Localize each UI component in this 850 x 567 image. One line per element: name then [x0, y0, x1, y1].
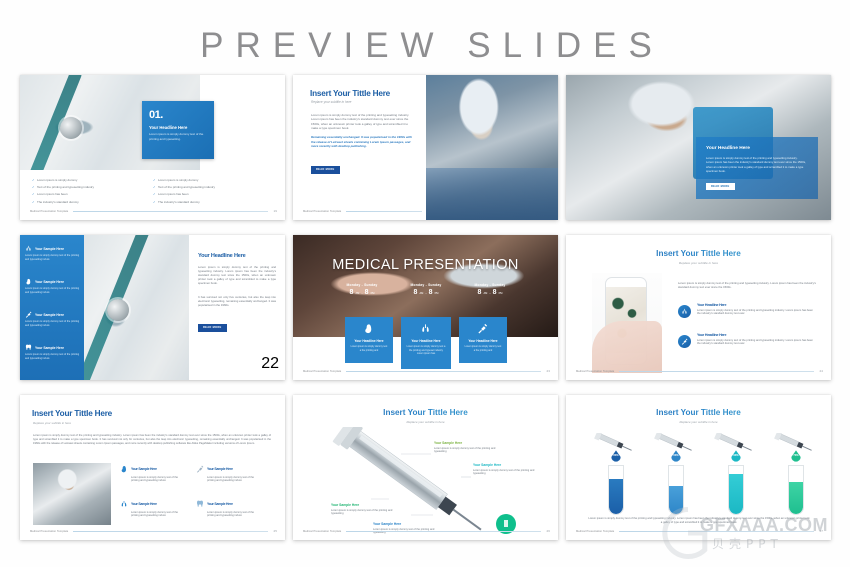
sidebar-item-label: Your Sample Here — [35, 247, 64, 251]
footer-text: Medical Presentation Template — [303, 370, 341, 373]
item-text: Lorem ipsum is simply dummy text of the … — [697, 309, 817, 317]
stethoscope-photo — [84, 235, 189, 380]
feature-item-3[interactable]: Your Sample Here Lorem ipsum is simply d… — [120, 500, 190, 518]
test-tube — [788, 465, 804, 515]
check-icon: ✓ — [32, 200, 35, 204]
icon-circle — [678, 335, 691, 348]
slide-title: Insert Your Tittle Here — [566, 249, 831, 258]
slide-thumbnail-3[interactable]: Your Headline Here Lorem ipsum is simply… — [566, 75, 831, 220]
check-icon: ✓ — [153, 192, 156, 196]
panel-body-1: Lorem ipsum is simply dummy text of the … — [198, 265, 276, 285]
slide-title: Insert Your Tittle Here — [566, 408, 831, 417]
hours-open-ampm: AM — [419, 292, 423, 295]
slide-body: Lorem ipsum is simply dummy text of the … — [678, 281, 818, 289]
sidebar-item-text: Lorem ipsum is simply dummy text of the … — [25, 254, 81, 262]
check-icon: ✓ — [32, 178, 35, 182]
lungs-icon — [420, 323, 431, 334]
page-title: PREVIEW SLIDES — [0, 0, 850, 66]
tube-percent: 60% — [668, 454, 684, 457]
lungs-icon — [120, 500, 128, 508]
callout-label: Your Sample Here — [331, 503, 393, 507]
test-tube — [728, 465, 744, 515]
feature-item-4[interactable]: Your Sample Here Lorem ipsum is simply d… — [196, 500, 266, 518]
syringe-infographic — [293, 427, 558, 537]
bullet-text: Lorem ipsum has been — [158, 192, 189, 196]
check-icon: ✓ — [153, 200, 156, 204]
item-label: Your Sample Here — [207, 467, 233, 471]
hours-close-ampm: PM — [371, 292, 375, 295]
syringe-icon — [477, 323, 488, 334]
check-icon: ✓ — [153, 185, 156, 189]
read-more-button-wrap[interactable]: READ MORE — [198, 315, 227, 333]
syringe-icon — [196, 465, 204, 473]
page-number: 25 — [273, 529, 277, 533]
slide-thumbnail-7[interactable]: Insert Your Tittle Here Replace your sub… — [20, 395, 285, 540]
footer-text: Medical Presentation Template — [576, 530, 614, 533]
slide-subtitle: Replace your subtitle in here — [566, 420, 831, 424]
callout-label: Your Sample Here — [473, 463, 535, 467]
surgeon-photo — [426, 75, 558, 220]
item-text: Lorem ipsum is simply dummy text of the … — [207, 511, 263, 519]
slide-subtitle: Replace your subtitle in here — [33, 421, 71, 425]
slide-thumbnail-6[interactable]: Insert Your Tittle Here Replace your sub… — [566, 235, 831, 380]
droplet-icon — [668, 449, 684, 465]
tooth-icon — [196, 500, 204, 508]
tube-group-4[interactable]: 70% — [774, 433, 826, 515]
bullet-text: Text of the printing and typesetting ind… — [158, 185, 215, 189]
read-more-button[interactable]: READ MORE — [706, 183, 735, 190]
callout-1[interactable]: Your Sample Here Lorem ipsum is simply d… — [434, 441, 496, 454]
test-tube — [668, 465, 684, 515]
feature-card-1[interactable]: Your Headline Here Lorem ipsum is simply… — [345, 317, 393, 363]
hours-open: 8 — [350, 289, 354, 296]
slide-footer: Medical Presentation Template 23 — [303, 369, 550, 373]
bullet-text: Lorem ipsum is simply dummy — [37, 178, 77, 182]
feature-item-1[interactable]: Your Sample Here Lorem ipsum is simply d… — [120, 465, 190, 483]
slide-body: Lorem ipsum is simply dummy text of the … — [311, 113, 415, 130]
footer-text: Medical Presentation Template — [303, 210, 341, 213]
footer-divider — [346, 371, 541, 372]
sidebar-item-1[interactable]: Your Sample Here Lorem ipsum is simply d… — [25, 245, 81, 262]
hand-phone-photo — [592, 273, 662, 373]
lab-photo — [33, 463, 111, 525]
slide-footer: Medical Presentation Template 26 — [303, 529, 550, 533]
item-text: Lorem ipsum is simply dummy text of the … — [131, 511, 187, 519]
footer-text: Medical Presentation Template — [576, 370, 614, 373]
bullet-text: The industry's standard dummy — [37, 200, 79, 204]
callout-text: Lorem ipsum is simply dummy text of the … — [331, 509, 393, 517]
sidebar-item-label: Your Sample Here — [35, 280, 64, 284]
hours-days: Monday - Sunday — [461, 283, 519, 287]
tube-fill — [729, 474, 743, 514]
sidebar-panel: Your Sample Here Lorem ipsum is simply d… — [20, 235, 84, 380]
check-icon: ✓ — [32, 185, 35, 189]
hours-close-ampm: PM — [499, 292, 503, 295]
callout-text: Lorem ipsum is simply dummy text of the … — [434, 447, 496, 455]
tube-fill — [609, 479, 623, 514]
overlay-headline: Your Headline Here — [706, 146, 750, 151]
read-more-button[interactable]: READ MORE — [198, 324, 227, 332]
sidebar-item-4[interactable]: Your Sample Here Lorem ipsum is simply d… — [25, 344, 81, 361]
footer-divider — [619, 371, 814, 372]
bullet-text: Text of the printing and typesetting ind… — [37, 185, 94, 189]
page-number: 19 — [273, 209, 277, 213]
hours-open: 8 — [478, 289, 482, 296]
content-panel: Your Headline Here Lorem ipsum is simply… — [189, 235, 285, 380]
footer-divider — [346, 531, 541, 532]
preview-slides-page: PREVIEW SLIDES 01. Your Headline Here Lo… — [0, 0, 850, 567]
panel-headline: Your Headline Here — [198, 253, 246, 259]
card-text: Lorem ipsum is simply dummy text of the … — [149, 132, 205, 141]
sidebar-item-text: Lorem ipsum is simply dummy text of the … — [25, 353, 81, 361]
card-headline: Your Headline Here — [149, 125, 187, 130]
hand-shape — [592, 321, 662, 373]
footer-text: Medical Presentation Template — [30, 210, 68, 213]
syringe-icon — [25, 311, 32, 318]
sidebar-item-label: Your Sample Here — [35, 346, 64, 350]
slide-subtitle: Replace your subtitle in here — [293, 420, 558, 424]
slide-title: Insert Your Tittle Here — [310, 89, 390, 98]
hours-open-ampm: AM — [483, 292, 487, 295]
callout-2[interactable]: Your Sample Here Lorem ipsum is simply d… — [473, 463, 535, 476]
bullet-list-left: ✓Lorem ipsum is simply dummy ✓Text of th… — [32, 178, 140, 204]
bullet-text: Lorem ipsum is simply dummy — [158, 178, 198, 182]
icon-circle — [678, 305, 691, 318]
stomach-icon — [120, 465, 128, 473]
item-label: Your Sample Here — [207, 502, 233, 506]
page-number: 26 — [546, 529, 550, 533]
test-tube — [608, 465, 624, 515]
stomach-icon — [363, 323, 374, 334]
droplet-icon — [788, 449, 804, 465]
feature-item-2[interactable]: Your Sample Here Lorem ipsum is simply d… — [196, 465, 266, 483]
headline-overlay-panel: Your Headline Here Lorem ipsum is simply… — [696, 137, 818, 199]
callout-text: Lorem ipsum is simply dummy text of the … — [473, 469, 535, 477]
slide-footer: Medical Presentation Template 19 — [30, 209, 277, 213]
item-headline: Your Headline Here — [697, 303, 820, 307]
sidebar-item-3[interactable]: Your Sample Here Lorem ipsum is simply d… — [25, 311, 81, 328]
syringe-icon — [681, 338, 688, 345]
check-icon: ✓ — [153, 178, 156, 182]
tube-fill — [789, 482, 803, 514]
feature-card-2[interactable]: Your Headline Here Lorem ipsum is simply… — [401, 317, 451, 369]
hours-open-ampm: AM — [355, 292, 359, 295]
page-number: 22 — [261, 355, 279, 373]
tube-group-2[interactable]: 60% — [654, 433, 706, 515]
page-number: 23 — [546, 369, 550, 373]
tube-percent: 90% — [728, 454, 744, 457]
slide-thumbnail-5[interactable]: MEDICAL PRESENTATION Monday - Sunday 8 A… — [293, 235, 558, 380]
item-label: Your Sample Here — [131, 502, 157, 506]
slide-thumbnail-2[interactable]: Insert Your Tittle Here Replace your sub… — [293, 75, 558, 220]
bullet-text: The industry's standard dummy — [158, 200, 200, 204]
read-more-button[interactable]: READ MORE — [311, 166, 340, 174]
slide-title: Insert Your Tittle Here — [293, 408, 558, 417]
page-number: 27 — [819, 529, 823, 533]
feature-item-1[interactable]: Your Headline Here Lorem ipsum is simply… — [678, 303, 820, 316]
hours-days: Monday - Sunday — [397, 283, 455, 287]
number-card: 01. Your Headline Here Lorem ipsum is si… — [142, 101, 214, 159]
sidebar-item-text: Lorem ipsum is simply dummy text of the … — [25, 287, 81, 295]
slide-title: MEDICAL PRESENTATION — [293, 257, 558, 273]
check-icon: ✓ — [32, 192, 35, 196]
stomach-icon — [25, 278, 32, 285]
page-number: 24 — [819, 369, 823, 373]
slide-body: Lorem ipsum is simply dummy text of the … — [588, 517, 810, 525]
hours-close-ampm: PM — [435, 292, 439, 295]
slide-body: Lorem ipsum is simply dummy text of the … — [33, 434, 271, 446]
slide-thumbnail-4[interactable]: Your Sample Here Lorem ipsum is simply d… — [20, 235, 285, 380]
hours-block-3: Monday - Sunday 8 AM - 8 PM — [461, 283, 519, 296]
item-headline: Your Headline Here — [697, 333, 820, 337]
tube-group-3[interactable]: 90% — [714, 433, 766, 515]
item-text: Lorem ipsum is simply dummy text of the … — [697, 339, 817, 347]
overlay-body: Lorem ipsum is simply dummy text of the … — [706, 156, 806, 173]
tooth-icon — [25, 344, 32, 351]
bullet-text: Lorem ipsum has been — [37, 192, 68, 196]
droplet-icon — [608, 449, 624, 465]
card-headline: Your Headline Here — [459, 339, 507, 343]
card-text: Lorem ipsum is simply dummy text a the p… — [464, 345, 502, 352]
hours-close: 8 — [365, 289, 369, 296]
slide-thumbnail-9[interactable]: Insert Your Tittle Here Replace your sub… — [566, 395, 831, 540]
card-text: Lorem ipsum is simply dummy text a the p… — [406, 345, 446, 356]
footer-divider — [346, 211, 422, 212]
footer-divider — [619, 531, 814, 532]
hours-close: 8 — [493, 289, 497, 296]
footer-divider — [73, 211, 268, 212]
feature-item-2[interactable]: Your Headline Here Lorem ipsum is simply… — [678, 333, 820, 346]
feature-card-3[interactable]: Your Headline Here Lorem ipsum is simply… — [459, 317, 507, 363]
slide-title: Insert Your Tittle Here — [32, 409, 112, 418]
lungs-icon — [681, 308, 688, 315]
lungs-icon — [25, 245, 32, 252]
callout-label: Your Sample Here — [434, 441, 496, 445]
bullet-list-right: ✓Lorem ipsum is simply dummy ✓Text of th… — [153, 178, 265, 204]
slide-body-highlight: Remaining essentially unchanged. It was … — [311, 135, 415, 149]
slide-thumbnail-1[interactable]: 01. Your Headline Here Lorem ipsum is si… — [20, 75, 285, 220]
item-label: Your Sample Here — [131, 467, 157, 471]
slide-footer: Medical Presentation Template 27 — [576, 529, 823, 533]
callout-label: Your Sample Here — [373, 522, 435, 526]
sidebar-item-label: Your Sample Here — [35, 313, 64, 317]
sidebar-item-text: Lorem ipsum is simply dummy text of the … — [25, 320, 81, 328]
callout-3[interactable]: Your Sample Here Lorem ipsum is simply d… — [331, 503, 393, 516]
footer-text: Medical Presentation Template — [30, 530, 68, 533]
hours-close: 8 — [429, 289, 433, 296]
hours-days: Monday - Sunday — [333, 283, 391, 287]
footer-text: Medical Presentation Template — [303, 530, 341, 533]
slide-subtitle: Replace your subtitle in here — [311, 100, 351, 104]
slide-thumbnail-8[interactable]: Insert Your Tittle Here Replace your sub… — [293, 395, 558, 540]
hours-block-1: Monday - Sunday 8 AM - 8 PM — [333, 283, 391, 296]
tube-fill — [669, 486, 683, 514]
card-headline: Your Headline Here — [401, 339, 451, 343]
hours-open: 8 — [414, 289, 418, 296]
card-text: Lorem ipsum is simply dummy text a the p… — [350, 345, 388, 352]
footer-divider — [73, 531, 268, 532]
panel-body-2: It has survived not only five centuries,… — [198, 295, 276, 307]
slides-grid: 01. Your Headline Here Lorem ipsum is si… — [20, 75, 832, 540]
hours-row: Monday - Sunday 8 AM - 8 PM Monday - Sun… — [333, 283, 519, 296]
tube-percent: 70% — [788, 454, 804, 457]
slide-footer: Medical Presentation Template — [303, 210, 422, 213]
droplet-icon — [728, 449, 744, 465]
slide-subtitle: Replace your subtitle in here — [566, 261, 831, 265]
item-text: Lorem ipsum is simply dummy text of the … — [131, 476, 187, 484]
slide-footer: Medical Presentation Template 24 — [576, 369, 823, 373]
card-headline: Your Headline Here — [345, 339, 393, 343]
read-more-button-wrap[interactable]: READ MORE — [311, 157, 340, 175]
sidebar-item-2[interactable]: Your Sample Here Lorem ipsum is simply d… — [25, 278, 81, 295]
tube-group-1[interactable]: 80% — [594, 433, 646, 515]
tube-percent: 80% — [608, 454, 624, 457]
slide-footer: Medical Presentation Template 25 — [30, 529, 277, 533]
slide-number-label: 01. — [149, 109, 163, 121]
hours-block-2: Monday - Sunday 8 AM - 8 PM — [397, 283, 455, 296]
item-text: Lorem ipsum is simply dummy text of the … — [207, 476, 263, 484]
